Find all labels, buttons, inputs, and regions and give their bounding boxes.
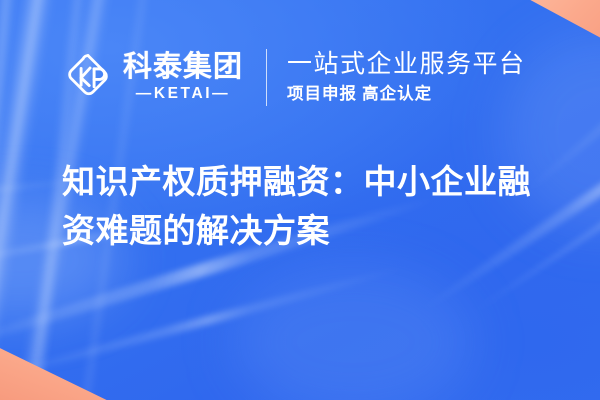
- header-divider: [266, 49, 267, 106]
- slogan-primary: 一站式企业服务平台: [287, 50, 526, 78]
- ketai-diamond-logo-mark: [62, 51, 114, 103]
- brand-logo[interactable]: 科泰集团 —KETAI—: [62, 51, 243, 103]
- logo-wordmark: 科泰集团 —KETAI—: [123, 52, 243, 102]
- slogan-block: 一站式企业服务平台 项目申报 高企认定: [287, 50, 526, 104]
- banner-header: 科泰集团 —KETAI— 一站式企业服务平台 项目申报 高企认定: [62, 44, 526, 110]
- slogan-secondary: 项目申报 高企认定: [287, 84, 526, 104]
- logo-company-name-en: —KETAI—: [123, 86, 243, 102]
- banner-title: 知识产权质押融资：中小企业融资难题的解决方案: [62, 158, 554, 256]
- logo-company-name-cn: 科泰集团: [123, 53, 243, 83]
- promotional-banner: 科泰集团 —KETAI— 一站式企业服务平台 项目申报 高企认定 知识产权质押融…: [0, 0, 600, 400]
